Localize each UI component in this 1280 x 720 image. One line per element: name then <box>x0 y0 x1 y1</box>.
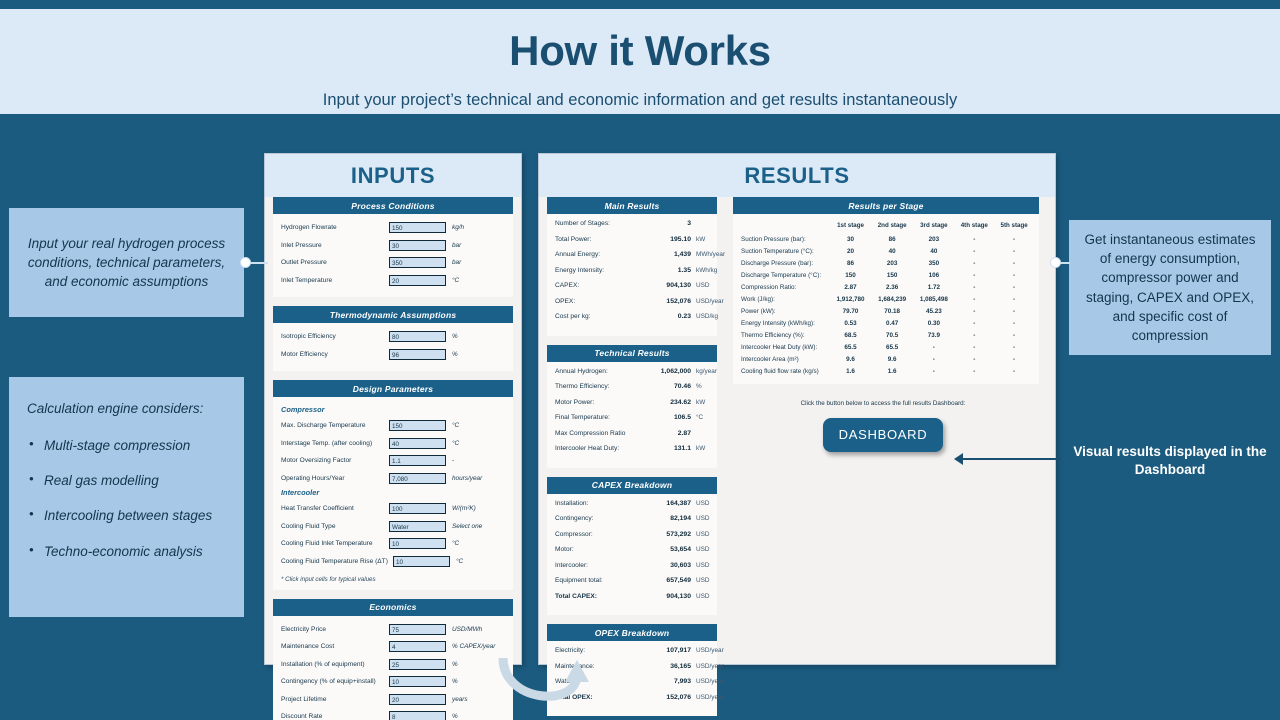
result-label: Cost per kg: <box>555 313 641 320</box>
input-unit: % <box>446 333 458 340</box>
table-cell: 70.5 <box>871 330 913 342</box>
subsection-compressor-label: Compressor <box>281 405 505 414</box>
input-unit: - <box>446 457 454 464</box>
input-label: Project Lifetime <box>281 696 389 703</box>
table-cell: - <box>954 234 994 246</box>
input-unit: °C <box>446 540 459 547</box>
result-unit: USD/year <box>691 647 724 654</box>
input-row[interactable]: Hydrogen Flowrate 150 kg/h <box>281 220 505 235</box>
table-cell: 1.6 <box>871 366 913 378</box>
result-value: 1,062,000 <box>641 368 691 375</box>
result-unit: USD/year <box>691 298 724 305</box>
table-cell: 1,912,780 <box>830 294 871 306</box>
input-field[interactable]: 25 <box>389 659 446 670</box>
row-label: Cooling fluid flow rate (kg/s) <box>738 366 830 378</box>
input-row[interactable]: Inlet Temperature 20 °C <box>281 273 505 288</box>
input-row[interactable]: Inlet Pressure 30 bar <box>281 238 505 253</box>
list-item: Multi-stage compression <box>27 436 226 455</box>
table-cell: 106 <box>913 270 954 282</box>
table-cell: 30 <box>830 234 871 246</box>
result-value: 2.87 <box>641 430 691 437</box>
table-row: Discharge Temperature (°C):150150106-- <box>738 270 1034 282</box>
table-cell: - <box>994 258 1034 270</box>
table-cell: 0.53 <box>830 318 871 330</box>
input-label: Motor Oversizing Factor <box>281 457 389 464</box>
table-cell: - <box>954 330 994 342</box>
result-unit: USD <box>691 562 710 569</box>
table-cell: - <box>954 246 994 258</box>
input-label: Inlet Temperature <box>281 277 389 284</box>
input-field[interactable]: 150 <box>389 420 446 431</box>
card-title: Thermodynamic Assumptions <box>273 306 513 323</box>
input-row[interactable]: Discount Rate 8 % <box>281 709 505 720</box>
input-field[interactable]: 10 <box>389 538 446 549</box>
list-item: Intercooling between stages <box>27 506 226 525</box>
table-cell: - <box>994 306 1034 318</box>
table-cell: 2.36 <box>871 282 913 294</box>
table-cell: - <box>954 318 994 330</box>
input-field[interactable]: 8 <box>389 711 446 720</box>
result-unit: °C <box>691 414 703 421</box>
table-row: Intercooler Area (m²)9.69.6--- <box>738 354 1034 366</box>
dashboard-button[interactable]: DASHBOARD <box>823 418 943 452</box>
input-unit: % <box>446 713 458 720</box>
table-cell: - <box>994 234 1034 246</box>
row-label: Work (J/kg): <box>738 294 830 306</box>
table-row: Compression Ratio:2.872.361.72-- <box>738 282 1034 294</box>
row-label: Discharge Pressure (bar): <box>738 258 830 270</box>
column-header: 4th stage <box>954 219 994 234</box>
input-row[interactable]: Cooling Fluid Type Water Select one <box>281 519 505 534</box>
header-divider <box>0 114 1280 117</box>
table-corner-cell <box>738 219 830 234</box>
table-cell: - <box>913 342 954 354</box>
result-value: 30,603 <box>641 562 691 569</box>
result-value: 70.46 <box>641 383 691 390</box>
input-field[interactable]: 150 <box>389 222 446 233</box>
result-value: 1,439 <box>641 251 691 258</box>
table-row: Power (kW):79.7070.1845.23-- <box>738 306 1034 318</box>
card-title: Design Parameters <box>273 380 513 397</box>
callout-text: Get instantaneous estimates of energy co… <box>1083 230 1257 345</box>
result-label: Annual Energy: <box>555 251 641 258</box>
input-row[interactable]: Cooling Fluid Temperature Rise (ΔT) 10 °… <box>281 554 505 569</box>
table-cell: 86 <box>871 234 913 246</box>
input-field[interactable]: 20 <box>389 275 446 286</box>
table-cell: 9.6 <box>830 354 871 366</box>
input-row[interactable]: Heat Transfer Coefficient 100 W/(m²K) <box>281 501 505 516</box>
result-unit: % <box>691 383 702 390</box>
result-label: Intercooler: <box>555 562 641 569</box>
callout-inputs-description: Input your real hydrogen process conditi… <box>9 208 244 317</box>
result-unit: USD <box>691 282 710 289</box>
list-item: Real gas modelling <box>27 471 226 490</box>
card-results-per-stage: Results per Stage 1st stage 2nd stage 3r… <box>733 197 1039 384</box>
callout-results-description: Get instantaneous estimates of energy co… <box>1069 220 1271 355</box>
table-row: Suction Pressure (bar):3086203-- <box>738 234 1034 246</box>
input-label: Cooling Fluid Temperature Rise (ΔT) <box>281 558 393 565</box>
card-thermodynamic-assumptions: Thermodynamic Assumptions Isotropic Effi… <box>273 306 513 371</box>
result-label: OPEX: <box>555 298 641 305</box>
input-label: Hydrogen Flowrate <box>281 224 389 231</box>
inputs-panel: INPUTS Process Conditions Hydrogen Flowr… <box>264 153 522 665</box>
result-value: 234.62 <box>641 399 691 406</box>
result-unit: USD/year <box>691 678 724 685</box>
result-value: 904,130 <box>641 593 691 600</box>
row-label: Thermo Efficiency (%): <box>738 330 830 342</box>
arrow-head-dashboard <box>954 453 963 465</box>
table-cell: 150 <box>871 270 913 282</box>
table-cell: 20 <box>830 246 871 258</box>
table-row: Cooling fluid flow rate (kg/s)1.61.6--- <box>738 366 1034 378</box>
table-cell: - <box>994 246 1034 258</box>
result-label: Motor: <box>555 546 641 553</box>
result-label: Energy Intensity: <box>555 267 641 274</box>
input-label: Contingency (% of equip+install) <box>281 678 389 685</box>
result-label: Total Power: <box>555 236 641 243</box>
input-field[interactable]: 96 <box>389 349 446 360</box>
table-cell: - <box>954 306 994 318</box>
input-unit: % <box>446 661 458 668</box>
input-field[interactable]: 350 <box>389 257 446 268</box>
table-cell: 65.5 <box>871 342 913 354</box>
input-row[interactable]: Motor Efficiency 96 % <box>281 347 505 362</box>
input-field[interactable]: 7,080 <box>389 473 446 484</box>
flow-arrow-icon <box>487 658 597 720</box>
input-unit: °C <box>446 277 459 284</box>
table-cell: 1.6 <box>830 366 871 378</box>
result-label: CAPEX: <box>555 282 641 289</box>
table-cell: 350 <box>913 258 954 270</box>
table-cell: 2.87 <box>830 282 871 294</box>
card-title: CAPEX Breakdown <box>547 477 717 494</box>
table-cell: 79.70 <box>830 306 871 318</box>
input-label: Cooling Fluid Type <box>281 523 389 530</box>
callout-lead-text: Calculation engine considers: <box>27 399 226 418</box>
input-field[interactable]: 20 <box>389 694 446 705</box>
input-unit: °C <box>446 422 459 429</box>
input-row[interactable]: Project Lifetime 20 years <box>281 692 505 707</box>
table-cell: 1,684,239 <box>871 294 913 306</box>
table-row: Work (J/kg):1,912,7801,684,2391,085,498-… <box>738 294 1034 306</box>
input-field[interactable]: 75 <box>389 624 446 635</box>
input-unit: years <box>446 696 468 703</box>
result-row: Contingency: 82,194 USD <box>555 515 709 531</box>
callout-text: Visual results displayed in the Dashboar… <box>1073 444 1266 477</box>
input-unit: °C <box>450 558 463 565</box>
input-label: Inlet Pressure <box>281 242 389 249</box>
table-cell: 0.30 <box>913 318 954 330</box>
row-label: Suction Pressure (bar): <box>738 234 830 246</box>
input-row[interactable]: Interstage Temp. (after cooling) 40 °C <box>281 436 505 451</box>
input-row[interactable]: Contingency (% of equip+install) 10 % <box>281 674 505 689</box>
card-title: Economics <box>273 599 513 616</box>
row-label: Discharge Temperature (°C): <box>738 270 830 282</box>
input-row[interactable]: Maintenance Cost 4 % CAPEX/year <box>281 639 505 654</box>
column-header: 3rd stage <box>913 219 954 234</box>
result-value: 195.10 <box>641 236 691 243</box>
column-header: 1st stage <box>830 219 871 234</box>
result-row: CAPEX: 904,130 USD <box>555 282 709 298</box>
page-subtitle: Input your project’s technical and econo… <box>0 91 1280 110</box>
result-label: Max Compression Ratio <box>555 430 641 437</box>
result-unit: USD <box>691 515 710 522</box>
card-title: Process Conditions <box>273 197 513 214</box>
table-cell: 1.72 <box>913 282 954 294</box>
callout-bullet-list: Multi-stage compression Real gas modelli… <box>27 436 226 561</box>
table-cell: 68.5 <box>830 330 871 342</box>
input-unit: hours/year <box>446 475 482 482</box>
input-field[interactable]: 40 <box>389 438 446 449</box>
input-label: Maintenance Cost <box>281 643 389 650</box>
result-value: 106.5 <box>641 414 691 421</box>
result-row: Motor: 53,654 USD <box>555 546 709 562</box>
table-cell: - <box>994 294 1034 306</box>
input-unit: % <box>446 351 458 358</box>
inputs-panel-title: INPUTS <box>265 154 521 197</box>
card-capex-breakdown: CAPEX Breakdown Installation: 164,387 US… <box>547 477 717 616</box>
row-label: Energy Intensity (kWh/kg): <box>738 318 830 330</box>
input-hint-note: * Click input cells for typical values <box>281 576 505 583</box>
input-unit: % <box>446 678 458 685</box>
result-value: 152,076 <box>641 694 691 701</box>
table-cell: - <box>954 354 994 366</box>
result-label: Electricity: <box>555 647 641 654</box>
results-panel-title: RESULTS <box>539 154 1055 197</box>
input-row[interactable]: Isotropic Efficiency 80 % <box>281 329 505 344</box>
table-cell: - <box>994 318 1034 330</box>
result-unit: USD <box>691 546 710 553</box>
table-cell: - <box>994 330 1034 342</box>
result-row: Intercooler: 30,603 USD <box>555 562 709 578</box>
input-row[interactable]: Motor Oversizing Factor 1.1 - <box>281 453 505 468</box>
input-label: Installation (% of equipment) <box>281 661 389 668</box>
row-label: Intercooler Heat Duty (kW): <box>738 342 830 354</box>
card-title: Main Results <box>547 197 717 214</box>
row-label: Suction Temperature (°C): <box>738 246 830 258</box>
result-unit: USD <box>691 531 710 538</box>
input-unit: bar <box>446 242 461 249</box>
table-cell: 86 <box>830 258 871 270</box>
result-label: Intercooler Heat Duty: <box>555 445 641 452</box>
result-label: Final Temperature: <box>555 414 641 421</box>
result-value: 107,917 <box>641 647 691 654</box>
table-cell: 70.18 <box>871 306 913 318</box>
result-unit: USD <box>691 500 710 507</box>
input-unit: kg/h <box>446 224 464 231</box>
result-value: 657,549 <box>641 577 691 584</box>
result-row: Annual Energy: 1,439 MWh/year <box>555 251 709 267</box>
card-technical-results: Technical Results Annual Hydrogen: 1,062… <box>547 345 717 468</box>
table-row: Thermo Efficiency (%):68.570.573.9-- <box>738 330 1034 342</box>
result-row: Compressor: 573,292 USD <box>555 531 709 547</box>
table-cell: - <box>994 270 1034 282</box>
card-title: OPEX Breakdown <box>547 624 717 641</box>
column-header: 5th stage <box>994 219 1034 234</box>
callout-text: Input your real hydrogen process conditi… <box>23 234 230 291</box>
result-value: 164,387 <box>641 500 691 507</box>
result-row: Installation: 164,387 USD <box>555 500 709 516</box>
input-label: Outlet Pressure <box>281 259 389 266</box>
result-row: OPEX: 152,076 USD/year <box>555 298 709 314</box>
result-row: Number of Stages: 3 <box>555 220 709 236</box>
input-unit: bar <box>446 259 461 266</box>
table-cell: 0.47 <box>871 318 913 330</box>
list-item: Techno-economic analysis <box>27 542 226 561</box>
result-label: Annual Hydrogen: <box>555 368 641 375</box>
result-value: 573,292 <box>641 531 691 538</box>
input-field[interactable]: 30 <box>389 240 446 251</box>
input-row[interactable]: Operating Hours/Year 7,080 hours/year <box>281 471 505 486</box>
table-row: Energy Intensity (kWh/kg):0.530.470.30-- <box>738 318 1034 330</box>
callout-calculation-engine: Calculation engine considers: Multi-stag… <box>9 377 244 617</box>
connector-dot-right <box>1050 257 1061 268</box>
input-field[interactable]: 10 <box>393 556 450 567</box>
top-accent-bar <box>0 0 1280 9</box>
input-label: Motor Efficiency <box>281 351 389 358</box>
dashboard-instruction: Click the button below to access the ful… <box>725 400 1041 407</box>
result-unit: USD/year <box>691 663 724 670</box>
table-cell: - <box>913 354 954 366</box>
results-panel: RESULTS Main Results Number of Stages: 3… <box>538 153 1056 665</box>
result-unit: kW <box>691 445 705 452</box>
result-unit: kW <box>691 236 705 243</box>
table-cell: 203 <box>871 258 913 270</box>
input-row[interactable]: Cooling Fluid Inlet Temperature 10 °C <box>281 536 505 551</box>
input-label: Max. Discharge Temperature <box>281 422 389 429</box>
table-cell: - <box>913 366 954 378</box>
result-value: 0.23 <box>641 313 691 320</box>
result-value: 904,130 <box>641 282 691 289</box>
result-label: Compressor: <box>555 531 641 538</box>
result-unit: USD <box>691 593 710 600</box>
table-cell: - <box>954 282 994 294</box>
input-field[interactable]: 10 <box>389 676 446 687</box>
input-unit: °C <box>446 440 459 447</box>
input-label: Cooling Fluid Inlet Temperature <box>281 540 389 547</box>
input-field-dropdown[interactable]: Water <box>389 521 446 532</box>
card-design-parameters: Design Parameters Compressor Max. Discha… <box>273 380 513 590</box>
connector-dot-left <box>240 257 251 268</box>
result-value: 7,993 <box>641 678 691 685</box>
result-row-total: Total CAPEX: 904,130 USD <box>555 593 709 609</box>
input-field[interactable]: 100 <box>389 503 446 514</box>
result-unit: USD <box>691 577 710 584</box>
table-row: Discharge Pressure (bar):86203350-- <box>738 258 1034 270</box>
input-unit: % CAPEX/year <box>446 643 495 650</box>
result-row: Thermo Efficiency: 70.46 % <box>555 383 709 399</box>
result-row: Intercooler Heat Duty: 131.1 kW <box>555 445 709 461</box>
table-cell: 45.23 <box>913 306 954 318</box>
table-cell: 73.9 <box>913 330 954 342</box>
table-cell: - <box>994 354 1034 366</box>
page-title: How it Works <box>0 27 1280 75</box>
result-unit: USD/kg <box>691 313 718 320</box>
result-unit: kWh/kg <box>691 267 717 274</box>
result-label: Total CAPEX: <box>555 593 641 600</box>
card-economics: Economics Electricity Price 75 USD/MWh M… <box>273 599 513 720</box>
callout-dashboard-description: Visual results displayed in the Dashboar… <box>1060 443 1280 479</box>
result-row: Final Temperature: 106.5 °C <box>555 414 709 430</box>
input-label: Operating Hours/Year <box>281 475 389 482</box>
input-unit: USD/MWh <box>446 626 482 633</box>
input-label: Isotropic Efficiency <box>281 333 389 340</box>
table-cell: 40 <box>913 246 954 258</box>
input-row[interactable]: Installation (% of equipment) 25 % <box>281 657 505 672</box>
input-unit: W/(m²K) <box>446 505 476 512</box>
result-unit: USD/year <box>691 694 724 701</box>
table-cell: 40 <box>871 246 913 258</box>
row-label: Intercooler Area (m²) <box>738 354 830 366</box>
table-cell: 150 <box>830 270 871 282</box>
arrow-shaft-dashboard <box>963 458 1061 460</box>
input-unit: Select one <box>446 523 482 530</box>
result-row: Motor Power: 234.62 kW <box>555 399 709 415</box>
result-value: 131.1 <box>641 445 691 452</box>
result-row: Cost per kg: 0.23 USD/kg <box>555 313 709 329</box>
result-label: Equipment total: <box>555 577 641 584</box>
result-value: 36,165 <box>641 663 691 670</box>
input-label: Interstage Temp. (after cooling) <box>281 440 389 447</box>
result-label: Number of Stages: <box>555 220 641 227</box>
card-main-results: Main Results Number of Stages: 3 Total P… <box>547 197 717 336</box>
result-value: 82,194 <box>641 515 691 522</box>
input-row[interactable]: Outlet Pressure 350 bar <box>281 255 505 270</box>
result-row: Annual Hydrogen: 1,062,000 kg/year <box>555 368 709 384</box>
input-label: Discount Rate <box>281 713 389 720</box>
result-row: Energy Intensity: 1.35 kWh/kg <box>555 267 709 283</box>
table-header-row: 1st stage 2nd stage 3rd stage 4th stage … <box>738 219 1034 234</box>
input-field[interactable]: 80 <box>389 331 446 342</box>
row-label: Compression Ratio: <box>738 282 830 294</box>
table-cell: - <box>994 282 1034 294</box>
input-row[interactable]: Electricity Price 75 USD/MWh <box>281 622 505 637</box>
row-label: Power (kW): <box>738 306 830 318</box>
stage-results-table: 1st stage 2nd stage 3rd stage 4th stage … <box>738 219 1034 378</box>
input-row[interactable]: Max. Discharge Temperature 150 °C <box>281 418 505 433</box>
input-field[interactable]: 4 <box>389 641 446 652</box>
result-value: 53,654 <box>641 546 691 553</box>
table-cell: 1,085,498 <box>913 294 954 306</box>
card-title: Results per Stage <box>733 197 1039 214</box>
result-value: 3 <box>641 220 691 227</box>
result-value: 152,076 <box>641 298 691 305</box>
table-row: Suction Temperature (°C):204040-- <box>738 246 1034 258</box>
column-header: 2nd stage <box>871 219 913 234</box>
page-header: How it Works Input your project’s techni… <box>0 9 1280 114</box>
card-process-conditions: Process Conditions Hydrogen Flowrate 150… <box>273 197 513 297</box>
table-cell: 9.6 <box>871 354 913 366</box>
result-row: Max Compression Ratio 2.87 <box>555 430 709 446</box>
input-field[interactable]: 1.1 <box>389 455 446 466</box>
table-cell: 203 <box>913 234 954 246</box>
table-row: Intercooler Heat Duty (kW):65.565.5--- <box>738 342 1034 354</box>
result-label: Thermo Efficiency: <box>555 383 641 390</box>
table-cell: - <box>954 342 994 354</box>
result-row: Total Power: 195.10 kW <box>555 236 709 252</box>
table-cell: - <box>954 294 994 306</box>
card-title: Technical Results <box>547 345 717 362</box>
input-label: Heat Transfer Coefficient <box>281 505 389 512</box>
table-cell: 65.5 <box>830 342 871 354</box>
table-cell: - <box>954 258 994 270</box>
result-value: 1.35 <box>641 267 691 274</box>
result-label: Installation: <box>555 500 641 507</box>
result-unit: kg/year <box>691 368 717 375</box>
table-cell: - <box>994 342 1034 354</box>
result-unit: kW <box>691 399 705 406</box>
table-cell: - <box>954 270 994 282</box>
